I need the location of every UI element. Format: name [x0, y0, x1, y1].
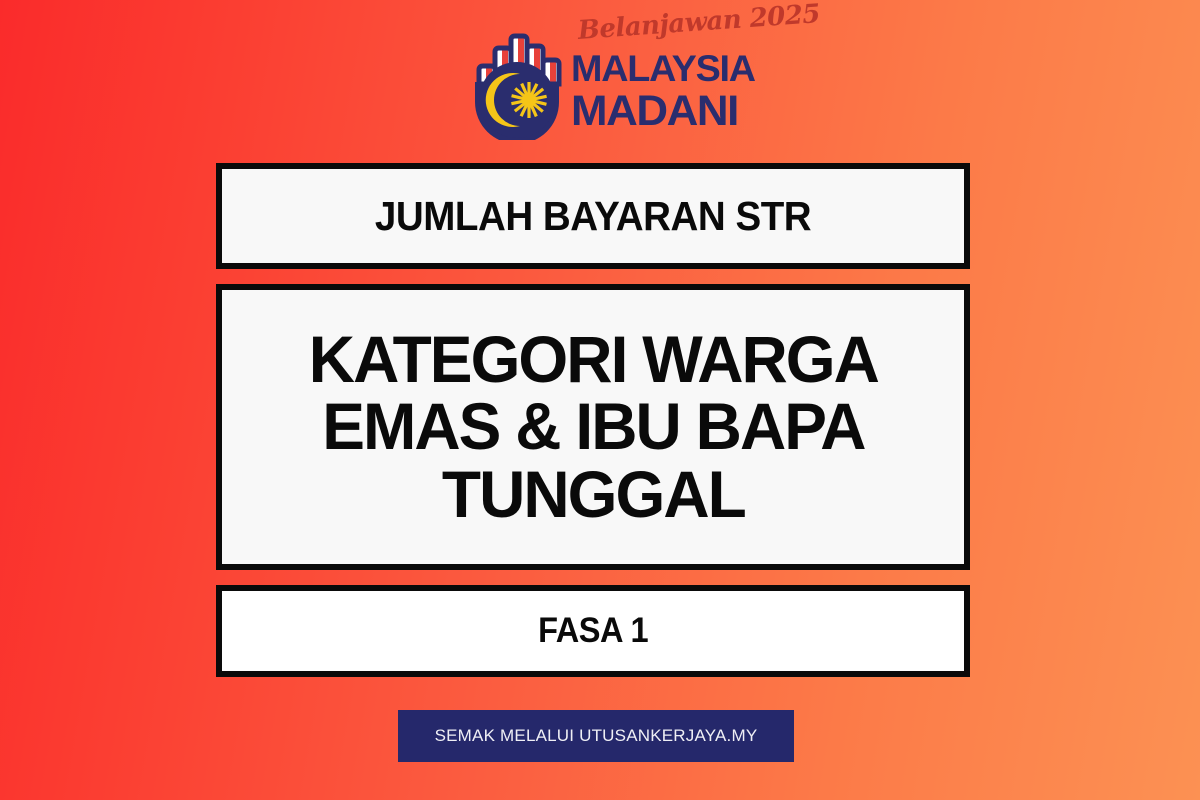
page-title: JUMLAH BAYARAN STR	[375, 193, 811, 240]
source-banner[interactable]: SEMAK MELALUI UTUSANKERJAYA.MY	[398, 710, 794, 762]
headline-text: KATEGORI WARGA EMAS & IBU BAPA TUNGGAL	[299, 326, 888, 528]
source-banner-label: SEMAK MELALUI UTUSANKERJAYA.MY	[435, 726, 758, 746]
headline-line-3: TUNGGAL	[308, 461, 877, 528]
poster-canvas: Belanjawan 2025 MALAYSIA MADANI JUMLAH B…	[0, 0, 1200, 800]
phase-panel: FASA 1	[216, 585, 970, 677]
malaysia-madani-hand-crescent-logo-icon	[465, 30, 569, 140]
belanjawan-script-label: Belanjawan 2025	[577, 0, 821, 46]
headline-line-1: KATEGORI WARGA	[308, 326, 877, 393]
malaysia-madani-wordmark: Belanjawan 2025 MALAYSIA MADANI	[571, 14, 741, 140]
title-panel: JUMLAH BAYARAN STR	[216, 163, 970, 269]
malaysia-madani-logo: Belanjawan 2025 MALAYSIA MADANI	[465, 14, 740, 140]
wordmark-malaysia: MALAYSIA	[571, 50, 755, 87]
wordmark-madani: MADANI	[571, 90, 738, 133]
headline-line-2: EMAS & IBU BAPA	[308, 393, 877, 460]
headline-panel: KATEGORI WARGA EMAS & IBU BAPA TUNGGAL	[216, 284, 970, 570]
phase-label: FASA 1	[538, 611, 648, 651]
